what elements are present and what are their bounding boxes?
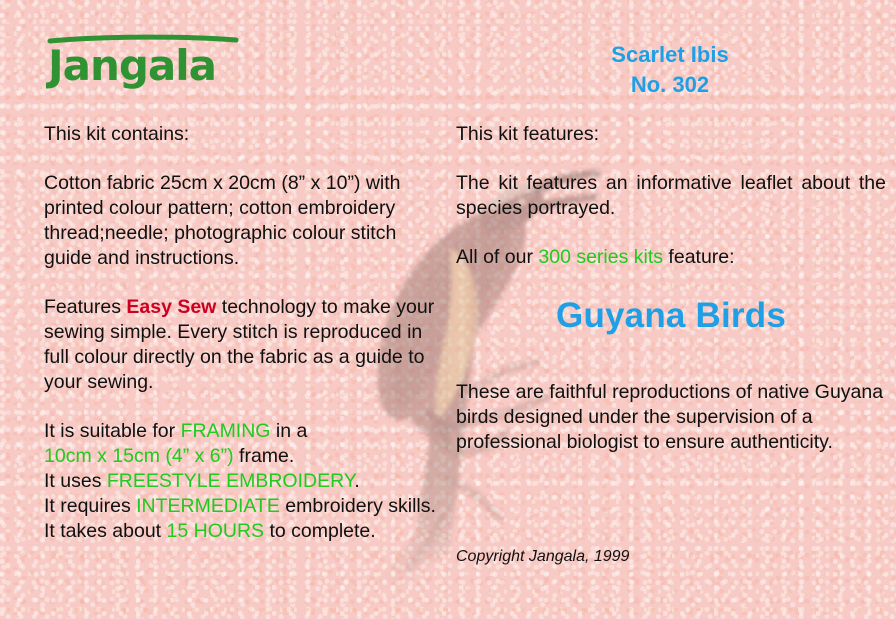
technique-before: It uses (44, 470, 107, 492)
duration-before: It takes about (44, 520, 167, 542)
series-paragraph: All of our 300 series kits feature: (456, 245, 886, 270)
duration-paragraph: It takes about 15 HOURS to complete. (44, 519, 436, 544)
duration-after: to complete. (264, 520, 376, 542)
kit-number: No. 302 (500, 70, 840, 100)
duration-highlight: 15 HOURS (167, 520, 265, 542)
authenticity-paragraph: These are faithful reproductions of nati… (456, 380, 886, 455)
product-info-card: Jangala Scarlet Ibis No. 302 This kit co… (0, 0, 896, 619)
series-after: feature: (663, 246, 735, 268)
skill-level-paragraph: It requires INTERMEDIATE embroidery skil… (44, 494, 436, 519)
technique-after: . (354, 470, 359, 492)
kit-contains-column: This kit contains: Cotton fabric 25cm x … (44, 122, 436, 544)
series-highlight: 300 series kits (538, 246, 663, 268)
jangala-logo-icon: Jangala (46, 32, 266, 94)
framing-before: It is suitable for (44, 420, 181, 442)
kit-features-heading: This kit features: (456, 122, 886, 147)
framing-paragraph: It is suitable for FRAMING in a10cm x 15… (44, 419, 436, 469)
skill-after: embroidery skills. (280, 495, 436, 517)
jangala-logo: Jangala (46, 32, 266, 94)
technique-highlight: FREESTYLE EMBROIDERY (107, 470, 354, 492)
skill-highlight: INTERMEDIATE (136, 495, 280, 517)
frame-size-after: frame. (234, 445, 295, 467)
easy-sew-before: Features (44, 296, 126, 318)
framing-highlight: FRAMING (181, 420, 271, 442)
easy-sew-highlight: Easy Sew (126, 296, 216, 318)
jangala-logo-text: Jangala (46, 41, 216, 90)
product-header: Scarlet Ibis No. 302 (500, 40, 840, 99)
species-name: Scarlet Ibis (500, 40, 840, 70)
copyright-notice: Copyright Jangala, 1999 (456, 548, 629, 566)
guyana-birds-heading: Guyana Birds (456, 296, 886, 336)
technique-paragraph: It uses FREESTYLE EMBROIDERY. (44, 469, 436, 494)
kit-contains-heading: This kit contains: (44, 122, 436, 147)
skill-before: It requires (44, 495, 136, 517)
frame-size-highlight: 10cm x 15cm (4” x 6”) (44, 445, 234, 467)
easy-sew-paragraph: Features Easy Sew technology to make you… (44, 295, 436, 395)
leaflet-paragraph: The kit features an informative leaflet … (456, 171, 886, 221)
kit-contents-paragraph: Cotton fabric 25cm x 20cm (8” x 10”) wit… (44, 171, 436, 271)
kit-features-column: This kit features: The kit features an i… (456, 122, 886, 479)
framing-after: in a (270, 420, 307, 442)
series-before: All of our (456, 246, 538, 268)
